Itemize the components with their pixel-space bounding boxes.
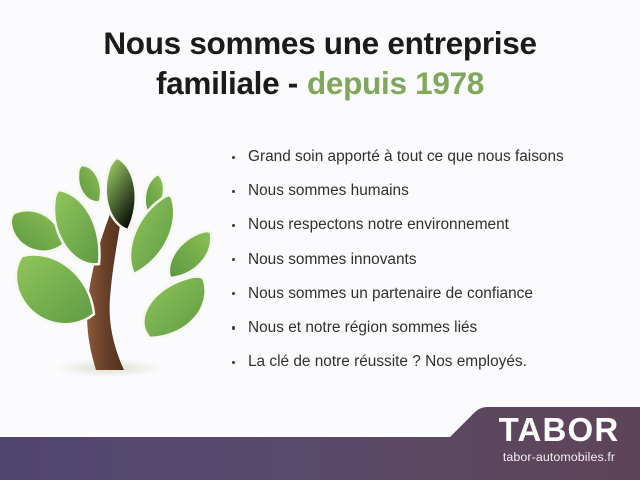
bullet-dot-icon: [232, 361, 235, 364]
title-line-2-main: familiale -: [156, 65, 298, 101]
bullet-dot-icon: [232, 156, 235, 159]
footer-bar-shape: [0, 407, 640, 480]
list-item-label: Nous et notre région sommes liés: [248, 319, 477, 336]
bullet-dot-icon: [232, 292, 235, 295]
list-item-label: Nous sommes innovants: [248, 251, 417, 268]
tree-leaf-right-tall: [130, 195, 174, 274]
list-item: Nous sommes humains: [231, 181, 631, 201]
list-item: Grand soin apporté à tout ce que nous fa…: [231, 147, 631, 167]
list-item-label: La clé de notre réussite ? Nos employés.: [248, 353, 527, 370]
list-item-label: Grand soin apporté à tout ce que nous fa…: [248, 148, 564, 165]
value-proposition-list: Grand soin apporté à tout ce que nous fa…: [231, 147, 631, 386]
title-line-2: familiale -depuis 1978: [0, 66, 640, 101]
slide-canvas: Nous sommes une entreprise familiale -de…: [0, 0, 640, 480]
bullet-dot-icon: [232, 190, 235, 193]
tree-leaf-lower-left: [16, 255, 94, 325]
list-item: Nous et notre région sommes liés: [231, 318, 631, 338]
list-item-label: Nous sommes humains: [248, 182, 409, 199]
page-title: Nous sommes une entreprise familiale -de…: [0, 26, 640, 102]
bullet-dot-icon: [232, 258, 235, 261]
list-item: La clé de notre réussite ? Nos employés.: [231, 352, 631, 372]
footer-brand-bar: [0, 405, 640, 480]
title-accent-year: depuis 1978: [307, 65, 484, 101]
tree-leaf-top-small-left: [78, 165, 101, 202]
list-item-label: Nous respectons notre environnement: [248, 216, 509, 233]
list-item-label: Nous sommes un partenaire de confiance: [248, 285, 533, 302]
title-line-1: Nous sommes une entreprise: [0, 26, 640, 61]
tree-illustration: [8, 138, 223, 386]
list-item: Nous sommes un partenaire de confiance: [231, 284, 631, 304]
bullet-dot-icon: [232, 224, 235, 227]
tree-leaf-far-right: [169, 231, 211, 278]
bullet-dot-icon: [232, 326, 235, 329]
tree-leaf-lower-right: [143, 277, 205, 338]
list-item: Nous sommes innovants: [231, 250, 631, 270]
list-item: Nous respectons notre environnement: [231, 215, 631, 235]
